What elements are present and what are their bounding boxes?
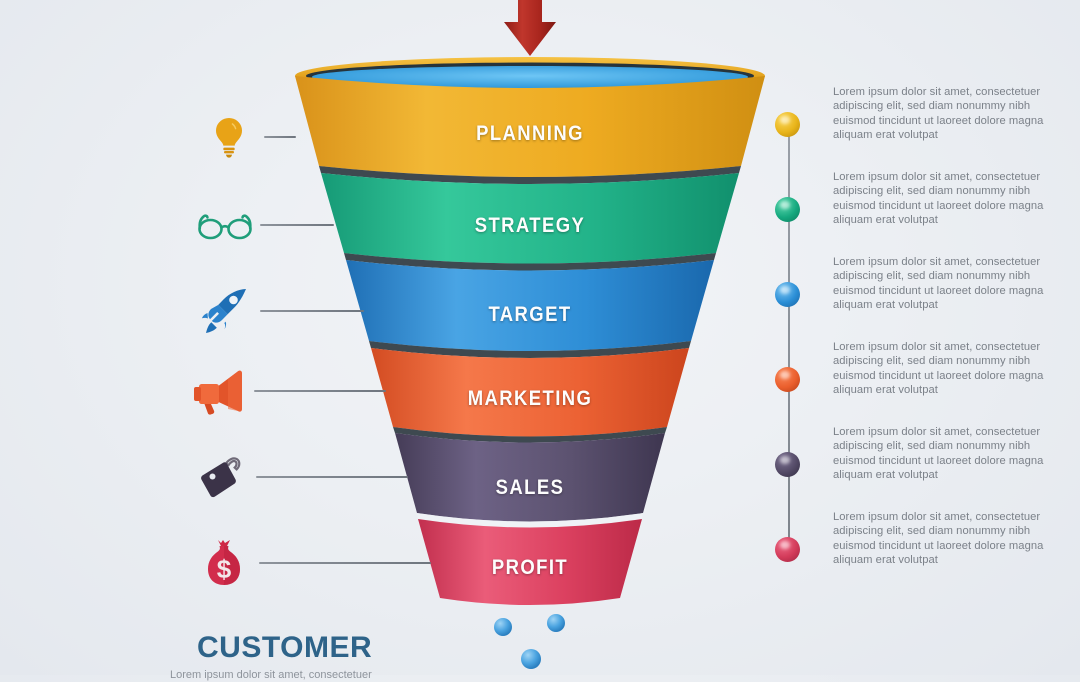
glasses-icon (196, 196, 254, 254)
connector-line-sales (256, 476, 408, 478)
connector-line-strategy (260, 224, 334, 226)
timeline-dot-marketing[interactable] (775, 367, 800, 392)
stage-label-strategy: STRATEGY (442, 214, 618, 238)
rocket-icon (196, 282, 254, 340)
connector-line-target (260, 310, 364, 312)
stage-label-marketing: MARKETING (442, 387, 618, 411)
megaphone-icon (190, 362, 248, 420)
description-planning: Lorem ipsum dolor sit amet, consectetuer… (833, 85, 1055, 143)
connector-line-marketing (254, 390, 386, 392)
description-strategy: Lorem ipsum dolor sit amet, consectetuer… (833, 170, 1055, 228)
description-profit: Lorem ipsum dolor sit amet, consectetuer… (833, 510, 1055, 568)
timeline-dot-strategy[interactable] (775, 197, 800, 222)
legend-item-target[interactable] (196, 282, 364, 340)
price-tag-icon (192, 448, 250, 506)
lightbulb-icon (200, 108, 258, 166)
description-sales: Lorem ipsum dolor sit amet, consectetuer… (833, 425, 1055, 483)
money-bag-icon: $ (195, 534, 253, 592)
stage-label-planning: PLANNING (442, 122, 618, 146)
droplets (494, 614, 565, 669)
timeline-dot-profit[interactable] (775, 537, 800, 562)
connector-line-planning (264, 136, 296, 138)
legend-item-strategy[interactable] (196, 196, 334, 254)
stage-label-target: TARGET (442, 303, 618, 327)
inflow-arrow (504, 0, 556, 56)
connector-line-profit (259, 562, 431, 564)
stage-label-sales: SALES (442, 476, 618, 500)
legend-item-profit[interactable]: $ (195, 534, 431, 592)
infographic-canvas: PLANNING STRATEGY TARGET MARKETING SALES… (0, 0, 1080, 675)
stage-label-profit: PROFIT (442, 556, 618, 580)
timeline-dot-planning[interactable] (775, 112, 800, 137)
legend-item-marketing[interactable] (190, 362, 386, 420)
timeline-spine (788, 128, 790, 556)
legend-item-planning[interactable] (200, 108, 296, 166)
timeline-dot-sales[interactable] (775, 452, 800, 477)
legend-item-sales[interactable] (192, 448, 408, 506)
description-marketing: Lorem ipsum dolor sit amet, consectetuer… (833, 340, 1055, 398)
customer-subtitle: Lorem ipsum dolor sit amet, consectetuer (170, 668, 470, 682)
description-target: Lorem ipsum dolor sit amet, consectetuer… (833, 255, 1055, 313)
timeline-dot-target[interactable] (775, 282, 800, 307)
customer-title: CUSTOMER (197, 631, 372, 665)
svg-text:$: $ (217, 554, 232, 584)
